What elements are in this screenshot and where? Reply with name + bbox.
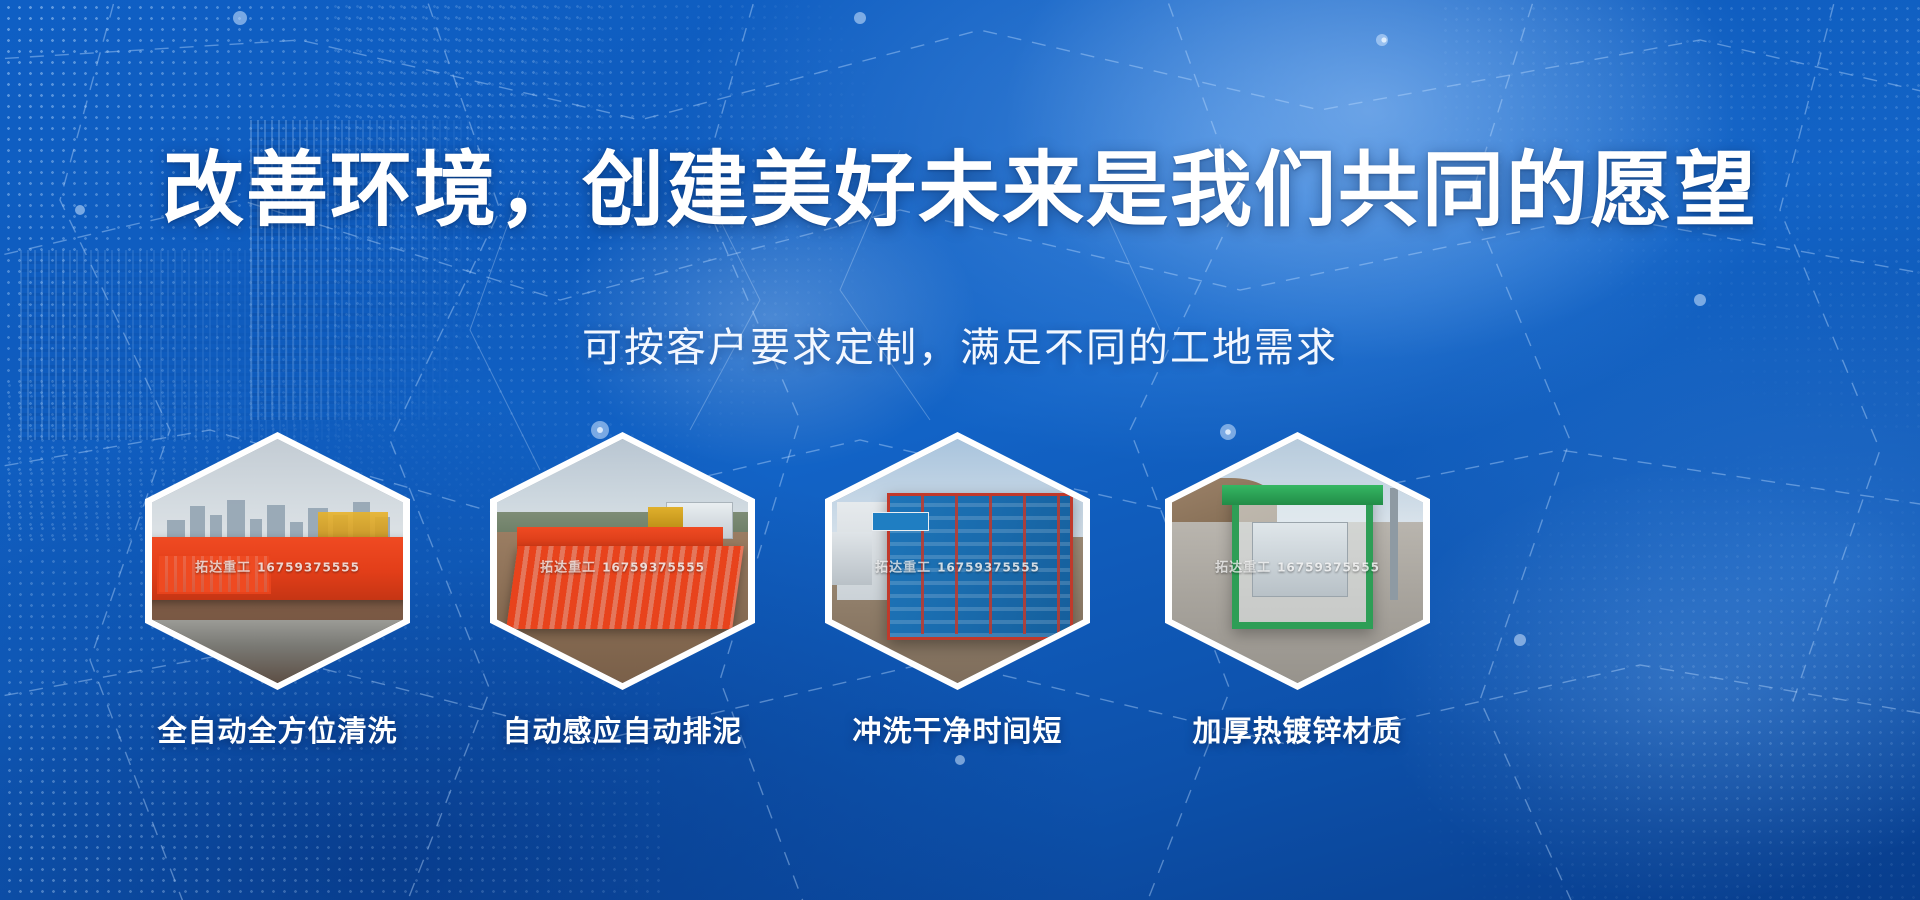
watermark-brand: 拓达重工 [875, 560, 931, 575]
photo-watermark: 拓达重工16759375555 [832, 556, 1083, 575]
feature-card[interactable]: 拓达重工16759375555 加厚热镀锌材质 [1165, 432, 1430, 750]
feature-card[interactable]: 拓达重工16759375555 自动感应自动排泥 [490, 432, 755, 750]
hexagon-photo-clip: 拓达重工16759375555 [152, 439, 403, 683]
watermark-phone: 16759375555 [602, 560, 705, 574]
photo-watermark: 拓达重工16759375555 [497, 556, 748, 575]
feature-card[interactable]: 拓达重工16759375555 全自动全方位清洗 [145, 432, 410, 750]
hexagon-photo-frame[interactable]: 拓达重工16759375555 [490, 432, 755, 690]
watermark-brand: 拓达重工 [540, 560, 596, 575]
feature-caption: 加厚热镀锌材质 [1165, 708, 1430, 750]
hexagon-photo-clip: 拓达重工16759375555 [497, 439, 748, 683]
watermark-phone: 16759375555 [257, 560, 360, 574]
watermark-phone: 16759375555 [1277, 560, 1380, 574]
page-subtitle: 可按客户要求定制，满足不同的工地需求 [0, 328, 1920, 368]
photo-watermark: 拓达重工16759375555 [152, 556, 403, 575]
hexagon-photo-clip: 拓达重工16759375555 [1172, 439, 1423, 683]
hexagon-photo-frame[interactable]: 拓达重工16759375555 [1165, 432, 1430, 690]
hexagon-photo-frame[interactable]: 拓达重工16759375555 [145, 432, 410, 690]
photo-watermark: 拓达重工16759375555 [1172, 556, 1423, 575]
feature-card-list: 拓达重工16759375555 全自动全方位清洗 [100, 432, 1820, 692]
hexagon-photo-frame[interactable]: 拓达重工16759375555 [825, 432, 1090, 690]
watermark-brand: 拓达重工 [195, 560, 251, 575]
feature-caption: 自动感应自动排泥 [490, 708, 755, 750]
feature-caption: 冲洗干净时间短 [825, 708, 1090, 750]
feature-card[interactable]: 拓达重工16759375555 冲洗干净时间短 [825, 432, 1090, 750]
promotional-banner: 改善环境，创建美好未来是我们共同的愿望 可按客户要求定制，满足不同的工地需求 [0, 0, 1920, 900]
watermark-brand: 拓达重工 [1215, 560, 1271, 575]
feature-caption: 全自动全方位清洗 [145, 708, 410, 750]
watermark-phone: 16759375555 [937, 560, 1040, 574]
hexagon-photo-clip: 拓达重工16759375555 [832, 439, 1083, 683]
page-title: 改善环境，创建美好未来是我们共同的愿望 [0, 150, 1920, 232]
